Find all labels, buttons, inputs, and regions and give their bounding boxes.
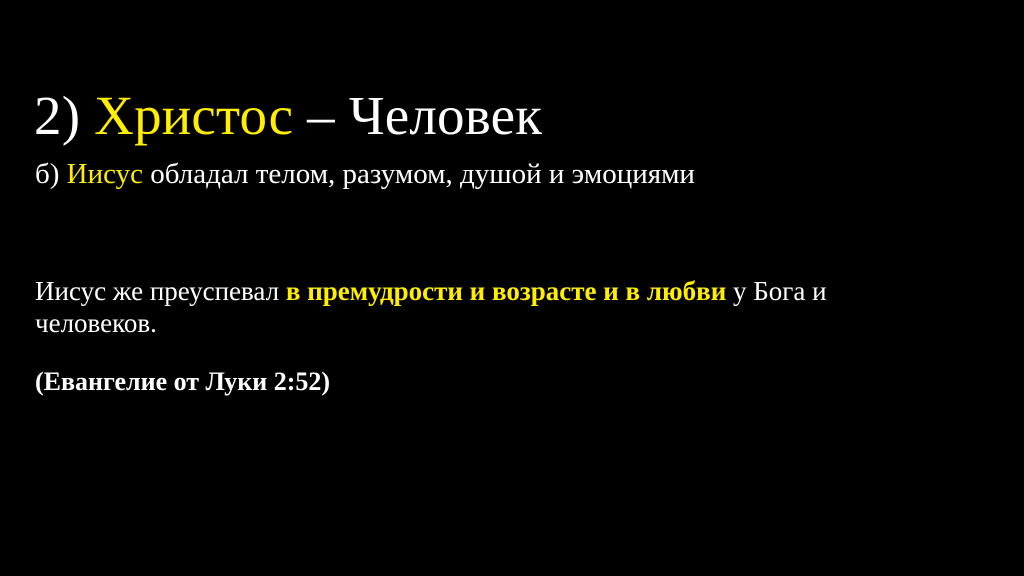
sub-point-letter: б) — [35, 158, 67, 190]
verse-highlight: в премудрости и возрасте и в любви — [286, 276, 726, 306]
scripture-verse: Иисус же преуспевал в премудрости и возр… — [35, 275, 930, 339]
scripture-reference: (Евангелие от Луки 2:52) — [35, 366, 930, 397]
title-highlight: Христос — [94, 85, 293, 146]
sub-point-highlight: Иисус — [67, 158, 143, 190]
title-number: 2) — [34, 85, 94, 146]
presentation-slide: 2) Христос – Человек б) Иисус обладал те… — [0, 0, 1024, 576]
verse-prefix: Иисус же преуспевал — [35, 276, 286, 306]
title-suffix: – Человек — [293, 85, 542, 146]
sub-point-suffix: обладал телом, разумом, душой и эмоциями — [143, 158, 695, 190]
slide-title: 2) Христос – Человек — [34, 85, 990, 147]
scripture-block: Иисус же преуспевал в премудрости и возр… — [35, 248, 930, 423]
sub-point-line: б) Иисус обладал телом, разумом, душой и… — [35, 157, 995, 191]
